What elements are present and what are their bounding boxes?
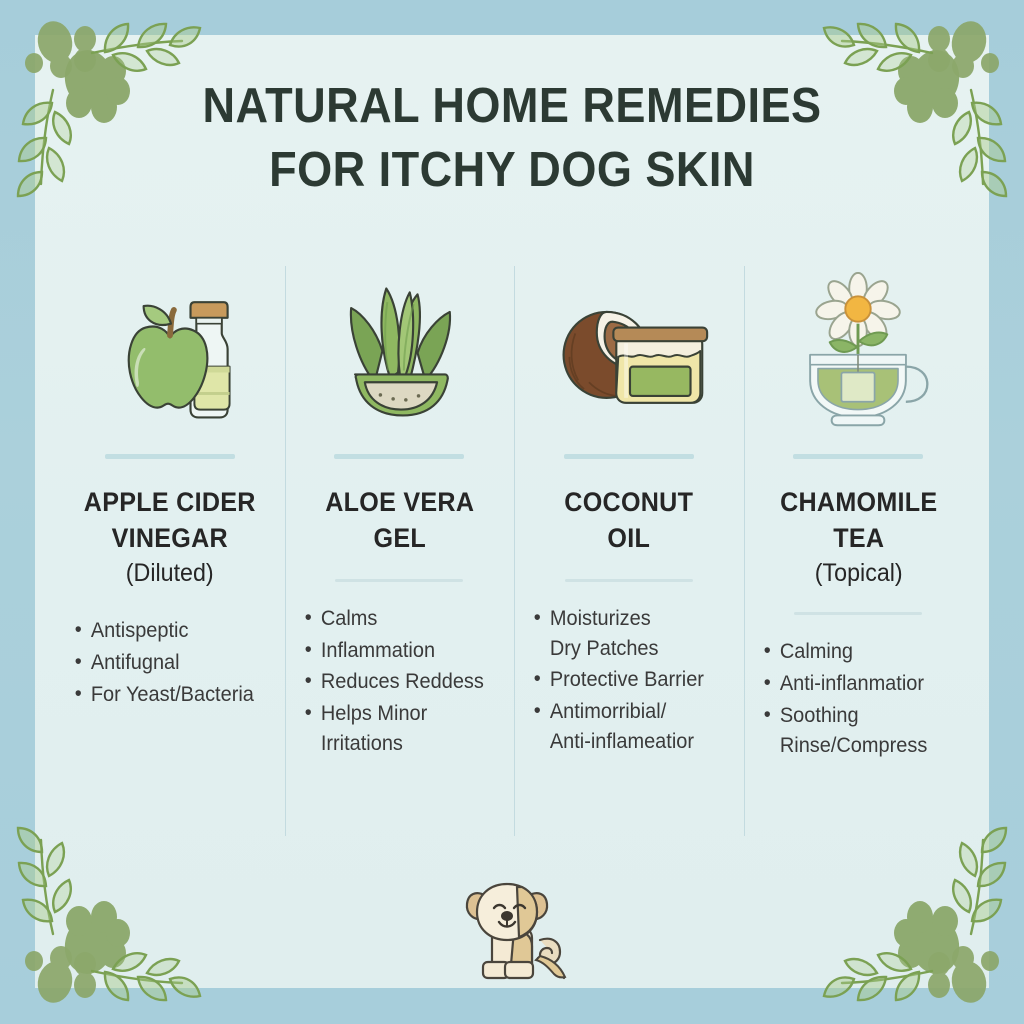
- list-item: For Yeast/Bacteria: [75, 680, 261, 710]
- remedy-title-line2: OIL: [607, 523, 650, 553]
- remedy-title-line1: APPLE CIDER: [84, 487, 256, 517]
- page-title: NATURAL HOME REMEDIES FOR ITCHY DOG SKIN: [41, 74, 983, 202]
- list-item: Protective Barrier: [534, 665, 720, 695]
- list-item: Antifugnal: [75, 648, 261, 678]
- remedy-column-aloe-vera-gel: ALOE VERA GEL Calms Inflammation Reduces…: [285, 266, 515, 836]
- remedy-subtitle: (Topical): [765, 557, 952, 590]
- remedy-title: CHAMOMILE TEA (Topical): [765, 485, 952, 590]
- remedy-title-line2: VINEGAR: [112, 523, 228, 553]
- list-item: Helps Minor Irritations: [304, 699, 490, 759]
- remedy-subtitle: (Diluted): [76, 557, 263, 590]
- remedy-title-line1: COCONUT: [564, 487, 693, 517]
- coconut-and-oil-jar-icon: [528, 266, 730, 436]
- sitting-dog-illustration: [452, 870, 572, 988]
- list-item: Anti-inflanmatior: [763, 669, 949, 699]
- remedy-benefit-list: Moisturizes Dry Patches Protective Barri…: [528, 604, 719, 757]
- remedy-title: COCONUT OIL: [535, 485, 722, 557]
- remedy-benefit-list: Calms Inflammation Reduces Reddess Helps…: [299, 604, 490, 759]
- remedy-benefit-list: Calming Anti-inflanmatior Soothing Rinse…: [758, 637, 949, 760]
- list-item: Antispeptic: [75, 616, 261, 646]
- list-item: Inflammation: [304, 636, 490, 666]
- list-item: Reduces Reddess: [304, 667, 490, 697]
- apple-and-vinegar-bottle-icon: [69, 266, 271, 436]
- title-divider-rule: [335, 579, 463, 582]
- chamomile-flower-teacup-icon: [758, 266, 960, 436]
- remedy-title: ALOE VERA GEL: [306, 485, 493, 557]
- remedy-column-apple-cider-vinegar: APPLE CIDER VINEGAR (Diluted) Antispepti…: [55, 266, 285, 836]
- title-line-2: FOR ITCHY DOG SKIN: [41, 138, 983, 202]
- list-item: Calming: [763, 637, 949, 667]
- list-item: Moisturizes Dry Patches: [534, 604, 720, 664]
- icon-divider-rule: [334, 454, 464, 459]
- remedy-title-line1: CHAMOMILE TEA: [780, 487, 937, 553]
- icon-divider-rule: [793, 454, 923, 459]
- icon-divider-rule: [105, 454, 235, 459]
- remedy-columns: APPLE CIDER VINEGAR (Diluted) Antispepti…: [55, 266, 973, 836]
- title-divider-rule: [794, 612, 922, 615]
- remedy-column-chamomile-tea: CHAMOMILE TEA (Topical) Calming Anti-inf…: [744, 266, 974, 836]
- remedy-title: APPLE CIDER VINEGAR (Diluted): [76, 485, 263, 590]
- title-line-1: NATURAL HOME REMEDIES: [202, 79, 821, 133]
- title-divider-rule: [565, 579, 693, 582]
- list-item: Calms: [304, 604, 490, 634]
- poster: NATURAL HOME REMEDIES FOR ITCHY DOG SKIN: [0, 0, 1024, 1024]
- remedy-title-line2: GEL: [373, 523, 425, 553]
- remedy-title-line1: ALOE VERA: [325, 487, 474, 517]
- list-item: Antimorribial/ Anti-inflameatior: [534, 697, 720, 757]
- list-item: Soothing Rinse/Compress: [763, 701, 949, 761]
- remedy-column-coconut-oil: COCONUT OIL Moisturizes Dry Patches Prot…: [514, 266, 744, 836]
- icon-divider-rule: [564, 454, 694, 459]
- aloe-vera-plant-icon: [299, 266, 501, 436]
- remedy-benefit-list: Antispeptic Antifugnal For Yeast/Bacteri…: [69, 616, 260, 709]
